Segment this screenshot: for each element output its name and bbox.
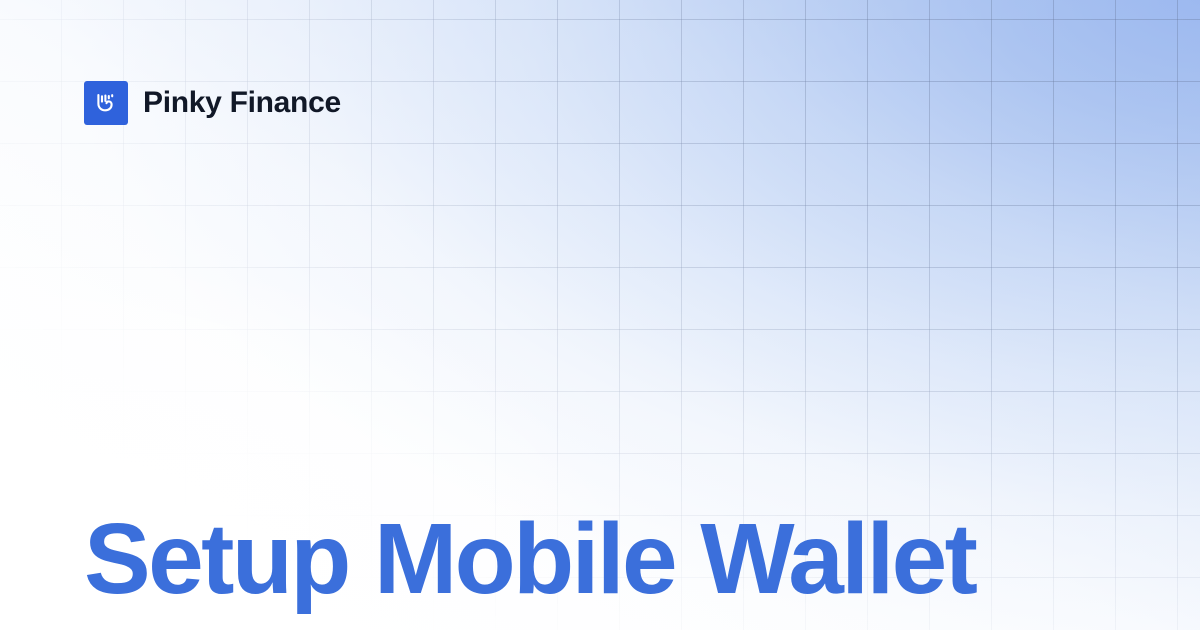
brand-name: Pinky Finance	[143, 88, 341, 118]
og-banner: Pinky Finance Setup Mobile Wallet	[0, 0, 1200, 630]
pinky-hand-icon	[84, 81, 128, 125]
page-title: Setup Mobile Wallet	[84, 507, 1114, 611]
brand-lockup: Pinky Finance	[84, 81, 341, 125]
